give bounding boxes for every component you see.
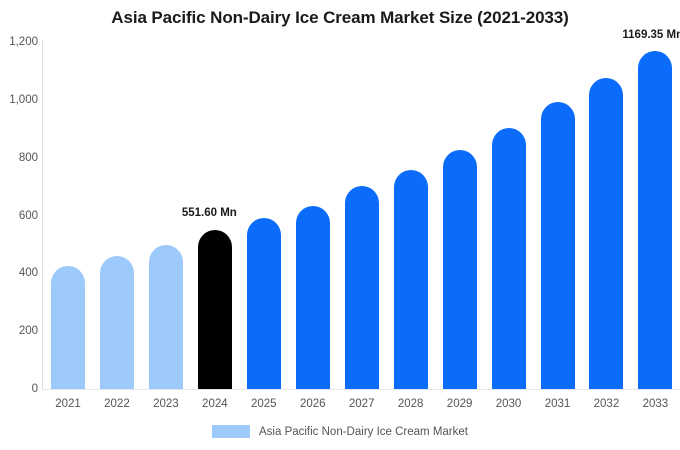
bar-slot [541,42,575,389]
bar-slot [296,42,330,389]
bar-2023[interactable] [149,245,183,389]
bar-slot [345,42,379,389]
bar-2026[interactable] [296,206,330,389]
x-axis-line [42,389,680,390]
bar-slot [589,42,623,389]
y-axis: 02004006008001,0001,200 [0,0,38,450]
y-axis-tick-label: 800 [2,152,38,164]
y-axis-tick-label: 400 [2,267,38,279]
bar-2029[interactable] [443,150,477,389]
data-label-2024: 551.60 Mn [182,207,237,219]
bar-slot [247,42,281,389]
bar-slot [100,42,134,389]
y-axis-tick-label: 200 [2,325,38,337]
bar-2027[interactable] [345,186,379,389]
data-label-2033: 1169.35 Mn [622,29,680,41]
y-axis-tick-label: 0 [2,383,38,395]
bar-slot [443,42,477,389]
y-axis-tick-label: 1,200 [2,36,38,48]
bar-2022[interactable] [100,256,134,389]
bar-2032[interactable] [589,78,623,389]
bar-2025[interactable] [247,218,281,389]
bar-slot [51,42,85,389]
bar-slot [638,42,672,389]
y-axis-tick-label: 1,000 [2,94,38,106]
bar-2031[interactable] [541,102,575,389]
legend-label: Asia Pacific Non-Dairy Ice Cream Market [259,426,468,438]
bar-2028[interactable] [394,170,428,389]
chart-legend: Asia Pacific Non-Dairy Ice Cream Market [0,425,680,438]
x-axis-tick-label: 2033 [625,398,680,410]
bar-2030[interactable] [492,128,526,389]
bar-slot [492,42,526,389]
bar-2024[interactable] [198,230,232,390]
bar-2033[interactable] [638,51,672,389]
chart-title: Asia Pacific Non-Dairy Ice Cream Market … [0,8,680,28]
bar-chart: Asia Pacific Non-Dairy Ice Cream Market … [0,0,680,450]
plot-area [42,42,680,389]
y-axis-tick-label: 600 [2,210,38,222]
legend-swatch [212,425,250,438]
bar-slot [394,42,428,389]
bar-slot [149,42,183,389]
bar-2021[interactable] [51,266,85,389]
